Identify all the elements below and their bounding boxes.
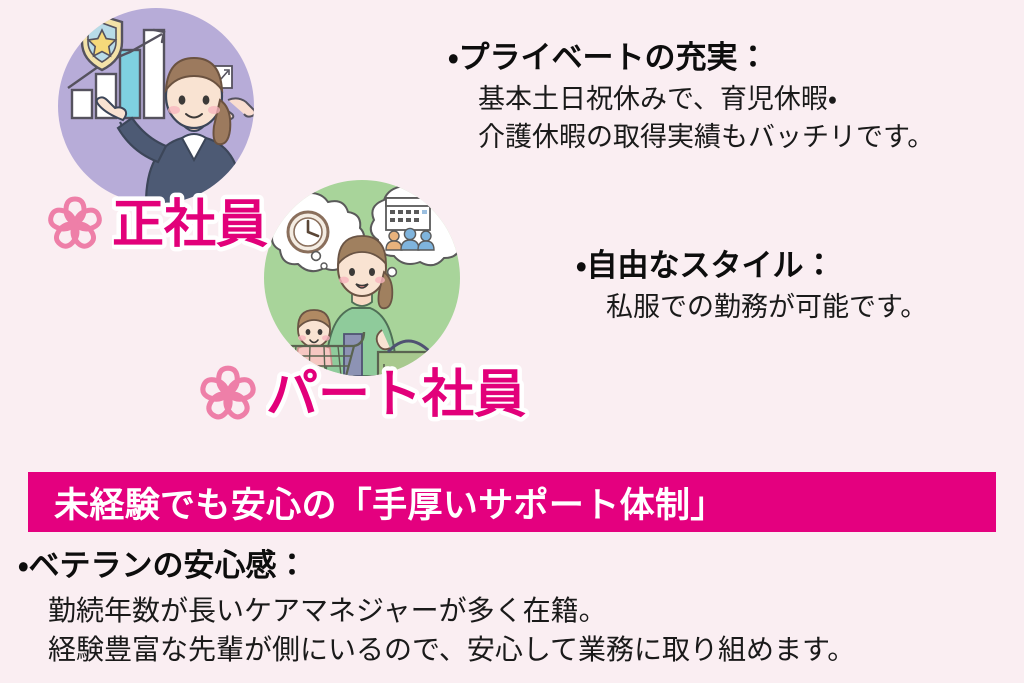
infographic-canvas: 正社員 パート社員 ・プライベートの充実： 基本土日祝休みで、育児休暇・ 介護休…	[0, 0, 1024, 683]
support-veteran-line-1: 勤続年数が長いケアマネジャーが多く在籍。	[48, 591, 855, 631]
sakura-icon	[196, 362, 260, 426]
benefit-style: ・自由なスタイル： 私服での勤務が可能です。	[576, 248, 927, 327]
bullet-marker: ・	[448, 40, 459, 76]
benefit-private: ・プライベートの充実： 基本土日祝休みで、育児休暇・ 介護休暇の取得実績もバッチ…	[448, 40, 934, 157]
sakura-icon	[44, 193, 106, 255]
benefit-style-heading: ・自由なスタイル：	[576, 248, 927, 285]
benefit-style-body: 私服での勤務が可能です。	[606, 289, 927, 327]
role-label-fulltime-text: 正社員	[112, 192, 292, 256]
benefit-private-body: 基本土日祝休みで、育児休暇・ 介護休暇の取得実績もバッチリです。	[478, 81, 934, 158]
benefit-private-line-2: 介護休暇の取得実績もバッチリです。	[478, 119, 934, 157]
svg-text:パート社員: パート社員	[266, 365, 526, 425]
mother-shopping-cart-illustration	[264, 180, 460, 376]
support-veteran-heading: ・ベテランの安心感：	[18, 548, 855, 585]
bullet-marker: ・	[576, 248, 587, 284]
role-label-fulltime: 正社員	[44, 192, 292, 256]
businesswoman-bar-chart-illustration	[58, 8, 254, 204]
parttime-illustration-circle	[264, 180, 460, 376]
support-veteran: ・ベテランの安心感： 勤続年数が長いケアマネジャーが多く在籍。 経験豊富な先輩が…	[18, 548, 855, 670]
svg-text:正社員: 正社員	[112, 195, 268, 255]
support-veteran-line-2: 経験豊富な先輩が側にいるので、安心して業務に取り組めます。	[48, 630, 855, 670]
role-label-parttime-text: パート社員	[266, 362, 556, 426]
support-veteran-heading-text: ベテランの安心感：	[29, 548, 308, 584]
benefit-style-line-1: 私服での勤務が可能です。	[606, 289, 927, 327]
role-label-parttime: パート社員	[196, 362, 556, 426]
benefit-style-heading-text: 自由なスタイル：	[587, 248, 835, 284]
fulltime-illustration-circle	[58, 8, 254, 204]
bullet-marker: ・	[18, 548, 29, 584]
support-banner: 未経験でも安心の「手厚いサポート体制」	[28, 472, 996, 532]
benefit-private-heading: ・プライベートの充実：	[448, 40, 934, 77]
benefit-private-line-1: 基本土日祝休みで、育児休暇・	[478, 81, 934, 119]
benefit-private-heading-text: プライベートの充実：	[459, 40, 769, 76]
support-veteran-body: 勤続年数が長いケアマネジャーが多く在籍。 経験豊富な先輩が側にいるので、安心して…	[48, 591, 855, 671]
support-banner-text: 未経験でも安心の「手厚いサポート体制」	[54, 477, 726, 528]
